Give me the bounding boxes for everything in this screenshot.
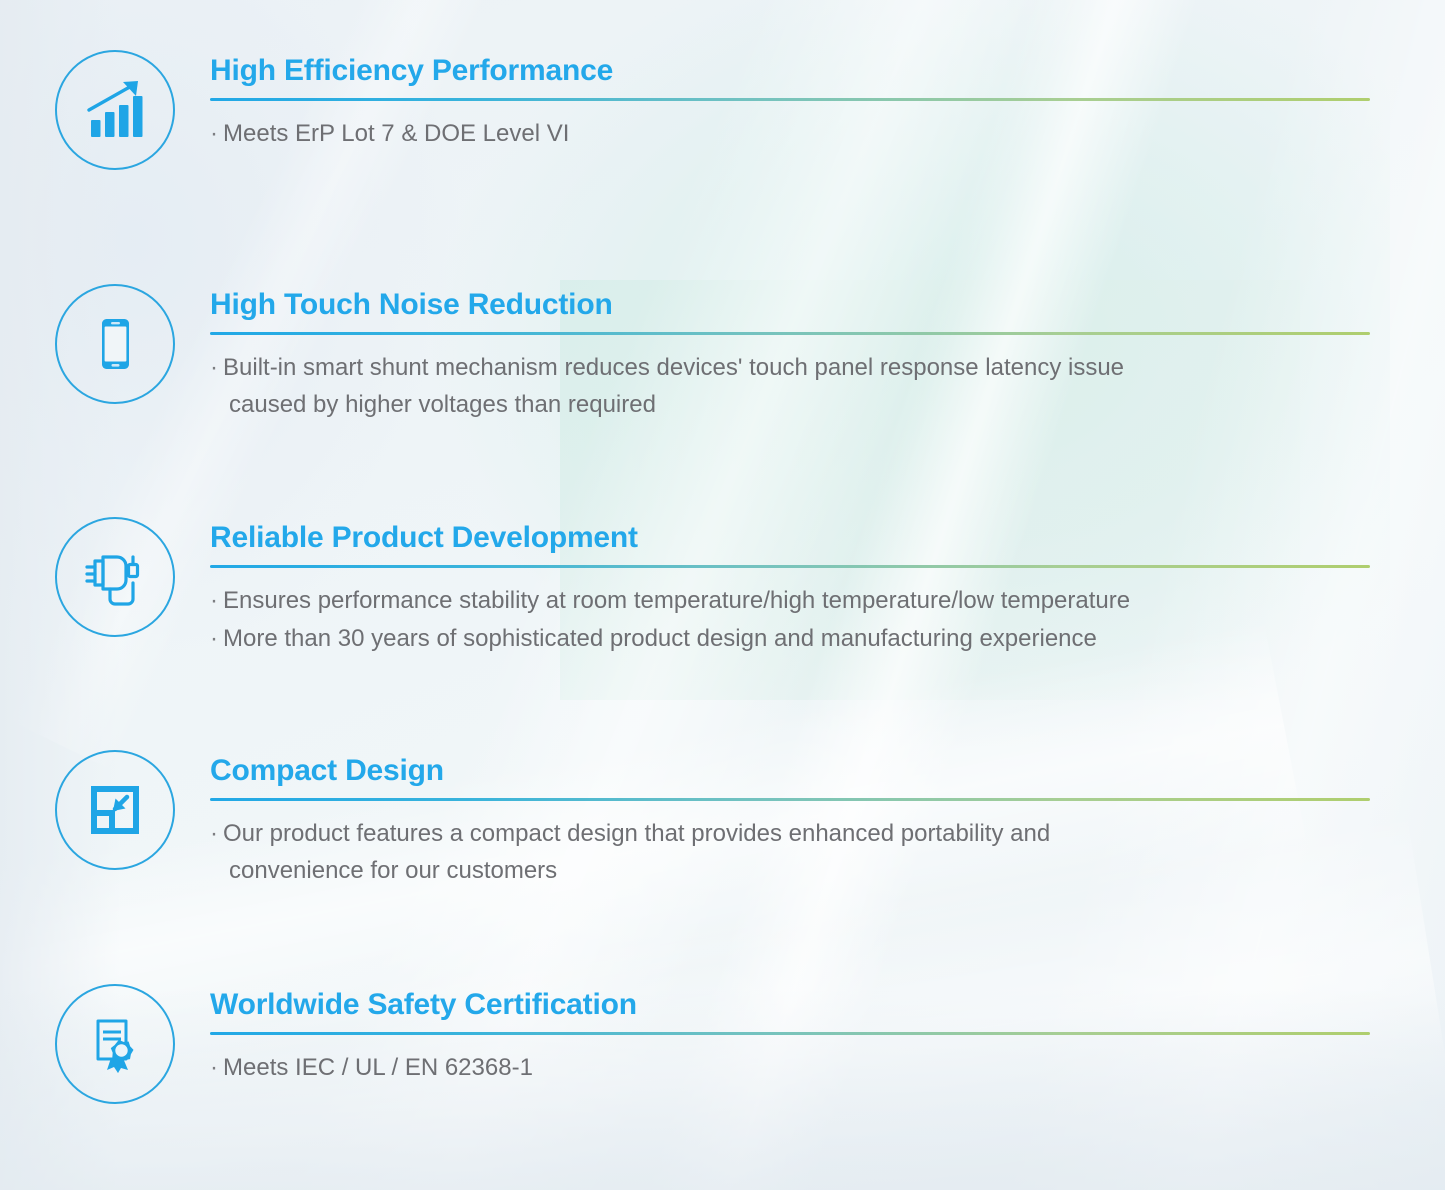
compact-resize-icon [55, 750, 175, 870]
feature-item-worldwide-safety-certification: Worldwide Safety Certification ·Meets IE… [0, 984, 1445, 1104]
feature-title: High Touch Noise Reduction [210, 288, 1445, 322]
feature-icon-container [0, 984, 178, 1104]
feature-body: High Efficiency Performance ·Meets ErP L… [178, 50, 1445, 152]
feature-icon-container [0, 517, 178, 637]
feature-body: High Touch Noise Reduction ·Built-in sma… [178, 284, 1445, 423]
feature-title: Reliable Product Development [210, 521, 1445, 555]
bullet-glyph: · [210, 587, 218, 614]
feature-item-high-efficiency-performance: High Efficiency Performance ·Meets ErP L… [0, 50, 1445, 170]
feature-bullet-line: ·Our product features a compact design t… [210, 815, 1390, 890]
certificate-seal-icon [55, 984, 175, 1104]
feature-bullet-line: ·Built-in smart shunt mechanism reduces … [210, 349, 1390, 424]
feature-body: Reliable Product Development ·Ensures pe… [178, 517, 1445, 657]
feature-divider [210, 98, 1370, 101]
feature-icon-container [0, 750, 178, 870]
bullet-text: Ensures performance stability at room te… [223, 587, 1130, 614]
smartphone-icon [55, 284, 175, 404]
feature-icon-container [0, 50, 178, 170]
bullet-text: Meets IEC / UL / EN 62368-1 [223, 1054, 533, 1081]
feature-item-high-touch-noise-reduction: High Touch Noise Reduction ·Built-in sma… [0, 284, 1445, 423]
bullet-glyph: · [210, 354, 218, 381]
feature-body: Worldwide Safety Certification ·Meets IE… [178, 984, 1445, 1086]
feature-title: High Efficiency Performance [210, 54, 1445, 88]
feature-title: Worldwide Safety Certification [210, 988, 1445, 1022]
bullet-text-continuation: caused by higher voltages than required [210, 386, 1390, 423]
feature-divider [210, 798, 1370, 801]
bullet-text-continuation: convenience for our customers [210, 852, 1390, 889]
feature-item-reliable-product-development: Reliable Product Development ·Ensures pe… [0, 517, 1445, 657]
feature-bullet-line: ·Meets ErP Lot 7 & DOE Level VI [210, 115, 1390, 152]
bullet-glyph: · [210, 820, 218, 847]
feature-bullet-line: ·Ensures performance stability at room t… [210, 582, 1390, 619]
feature-divider [210, 1032, 1370, 1035]
feature-list-page: High Efficiency Performance ·Meets ErP L… [0, 0, 1445, 1190]
bullet-text: Built-in smart shunt mechanism reduces d… [223, 354, 1124, 381]
feature-item-compact-design: Compact Design ·Our product features a c… [0, 750, 1445, 889]
feature-bullet-line: ·Meets IEC / UL / EN 62368-1 [210, 1049, 1390, 1086]
bullet-glyph: · [210, 1054, 218, 1081]
feature-divider [210, 332, 1370, 335]
feature-title: Compact Design [210, 754, 1445, 788]
bullet-glyph: · [210, 625, 218, 652]
bullet-glyph: · [210, 120, 218, 147]
feature-divider [210, 565, 1370, 568]
feature-bullet-line: ·More than 30 years of sophisticated pro… [210, 620, 1390, 657]
bullet-text: Meets ErP Lot 7 & DOE Level VI [223, 120, 569, 147]
feature-body: Compact Design ·Our product features a c… [178, 750, 1445, 889]
bullet-text: More than 30 years of sophisticated prod… [223, 625, 1097, 652]
power-adapter-icon [55, 517, 175, 637]
bullet-text: Our product features a compact design th… [223, 820, 1050, 847]
feature-icon-container [0, 284, 178, 404]
bar-chart-growth-icon [55, 50, 175, 170]
